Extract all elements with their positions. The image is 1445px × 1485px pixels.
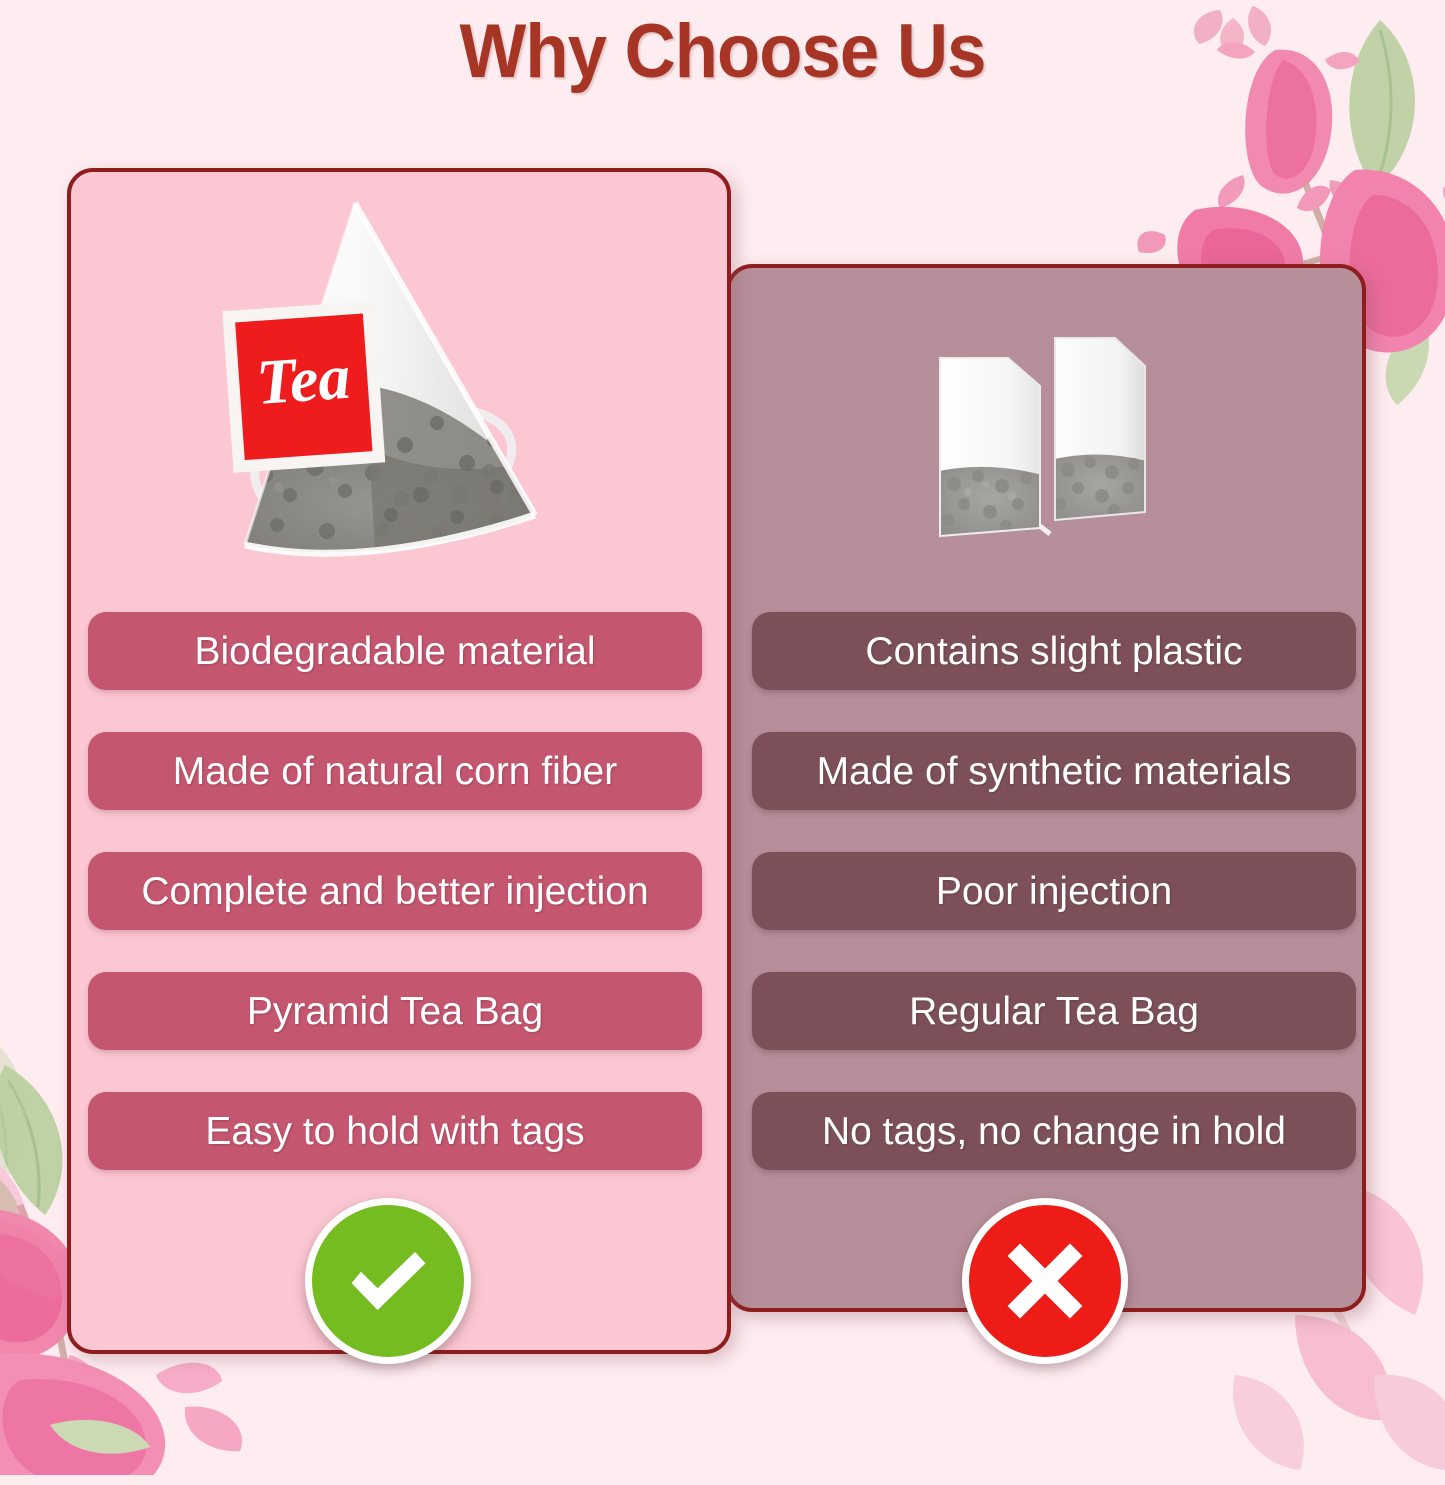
pyramid-tea-bag-photo: Tea [205,195,605,585]
list-item[interactable]: Contains slight plastic [752,612,1356,690]
list-item[interactable]: Made of natural corn fiber [88,732,702,810]
list-item[interactable]: Easy to hold with tags [88,1092,702,1170]
list-item[interactable]: Biodegradable material [88,612,702,690]
svg-text:Tea: Tea [254,341,352,418]
list-item[interactable]: No tags, no change in hold [752,1092,1356,1170]
check-mark-icon [305,1198,471,1364]
list-item[interactable]: Poor injection [752,852,1356,930]
list-item[interactable]: Pyramid Tea Bag [88,972,702,1050]
bad-feature-list: Contains slight plastic Made of syntheti… [752,612,1356,1170]
list-item[interactable]: Made of synthetic materials [752,732,1356,810]
good-feature-list: Biodegradable material Made of natural c… [88,612,702,1170]
regular-tea-bag-photo [900,320,1170,560]
page-title: Why Choose Us [51,8,1395,95]
cross-mark-icon [962,1198,1128,1364]
list-item[interactable]: Complete and better injection [88,852,702,930]
list-item[interactable]: Regular Tea Bag [752,972,1356,1050]
